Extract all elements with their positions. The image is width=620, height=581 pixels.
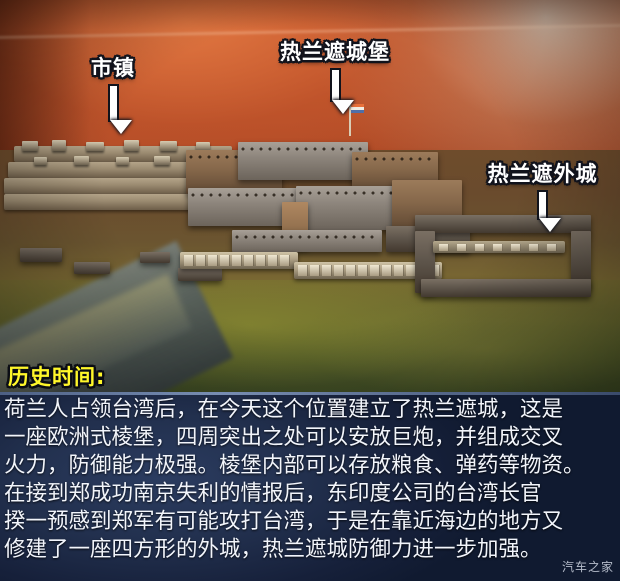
diorama-photo: 市镇 热兰遮城堡 热兰遮外城 <box>0 0 620 394</box>
callout-outer-city: 热兰遮外城 <box>470 164 615 232</box>
caption-text-block: 荷兰人占领台湾后，在今天这个位置建立了热兰遮城，这是 一座欧洲式棱堡，四周突出之… <box>0 392 620 564</box>
callout-fort-castle: 热兰遮城堡 <box>255 42 415 114</box>
caption-line: 揆一预感到郑军有可能攻打台湾，于是在靠近海边的地方又 <box>4 508 614 536</box>
model-debris <box>140 252 170 263</box>
callout-outer-city-label: 热兰遮外城 <box>470 164 615 185</box>
watermark: 汽车之家 <box>562 558 614 575</box>
section-title: 历史时间: <box>8 367 105 388</box>
screenshot-root: 市镇 热兰遮城堡 热兰遮外城 历史时间: 荷兰人占领台湾后，在今天这个位置 <box>0 0 620 581</box>
caption-line: 一座欧洲式棱堡，四周突出之处可以安放巨炮，并组成交叉 <box>4 424 614 452</box>
caption-line: 修建了一座四方形的外城，热兰遮城防御力进一步加强。 <box>4 536 614 564</box>
model-debris <box>74 262 110 274</box>
callout-town: 市镇 <box>58 58 168 134</box>
model-debris <box>20 248 62 262</box>
down-arrow-icon <box>332 70 339 114</box>
caption-line: 荷兰人占领台湾后，在今天这个位置建立了热兰遮城，这是 <box>4 396 614 424</box>
caption-line: 火力，防御能力极强。棱堡内部可以存放粮食、弹药等物资。 <box>4 452 614 480</box>
callout-town-label: 市镇 <box>58 58 168 79</box>
down-arrow-icon <box>110 86 117 134</box>
caption-panel: 荷兰人占领台湾后，在今天这个位置建立了热兰遮城，这是 一座欧洲式棱堡，四周突出之… <box>0 392 620 581</box>
callout-fort-castle-label: 热兰遮城堡 <box>255 42 415 63</box>
caption-line: 在接到郑成功南京失利的情报后，东印度公司的台湾长官 <box>4 480 614 508</box>
down-arrow-icon <box>539 192 546 232</box>
